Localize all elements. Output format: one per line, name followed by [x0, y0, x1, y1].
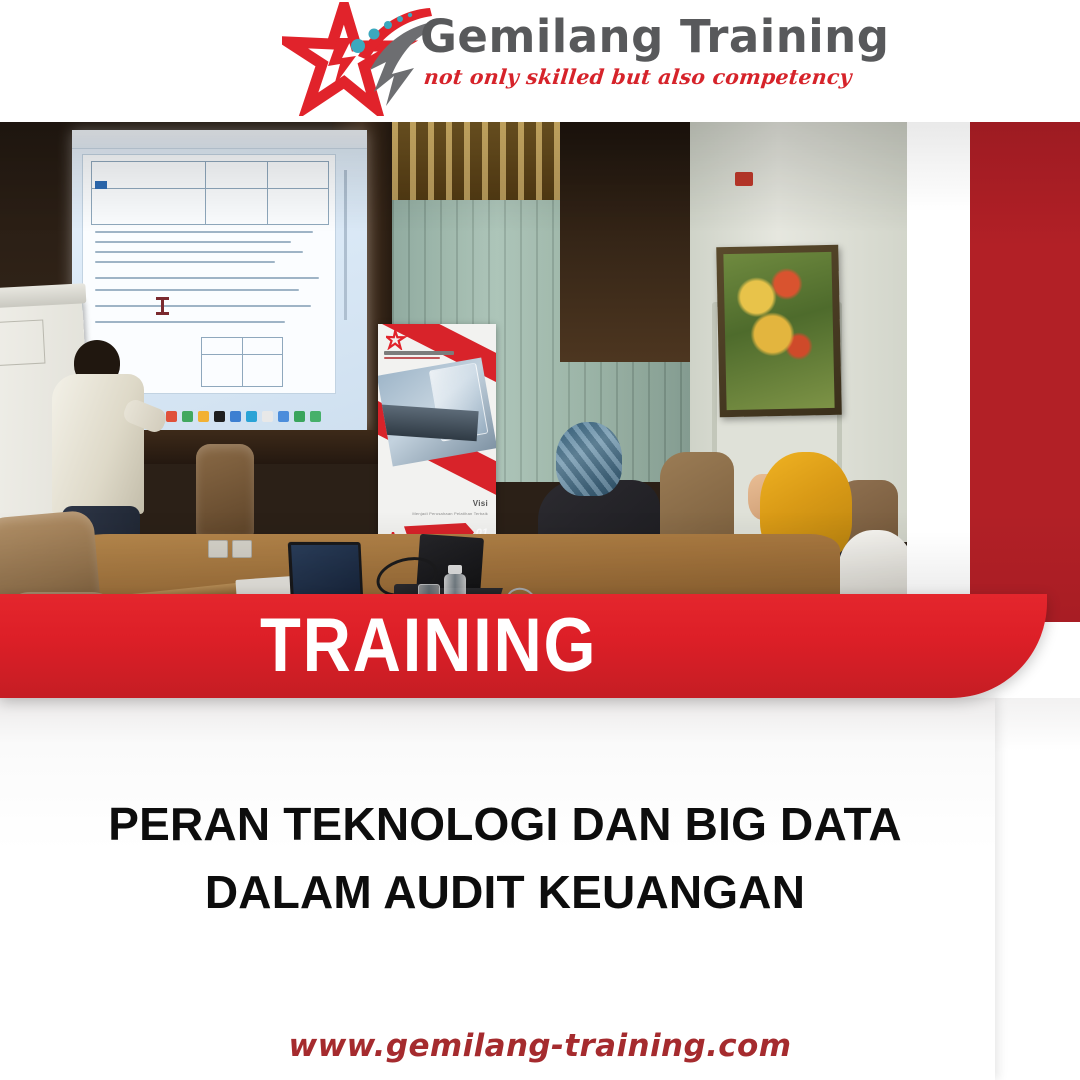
website-url[interactable]: www.gemilang-training.com	[0, 1028, 1080, 1064]
rollup-banner: Visi Menjadi Perusahaan Pelatihan Terbai…	[378, 324, 496, 552]
wall-socket	[208, 540, 228, 558]
rollup-star-icon	[386, 330, 408, 350]
painting-canvas	[723, 252, 834, 410]
header: Gemilang Training not only skilled but a…	[0, 0, 1080, 122]
screen-scrollbar	[344, 170, 347, 320]
flipchart-sketch	[0, 319, 45, 366]
rollup-visi-sub: Menjadi Perusahaan Pelatihan Terbaik	[412, 511, 488, 516]
participant-blue-hijab	[556, 422, 622, 496]
course-title-line-2: DALAM AUDIT KEUANGAN	[0, 858, 1010, 926]
photo-gap-strip	[907, 122, 970, 622]
wall-socket	[232, 540, 252, 558]
course-title-line-1: PERAN TEKNOLOGI DAN BIG DATA	[0, 790, 1010, 858]
logo-tagline: not only skilled but also competency	[423, 64, 814, 90]
banner-title-text: TRAINING	[260, 608, 597, 684]
training-banner: TRAINING	[0, 594, 1047, 698]
doc-highlight	[95, 181, 107, 189]
exit-sign	[735, 172, 753, 186]
photo-stage: Visi Menjadi Perusahaan Pelatihan Terbai…	[0, 122, 1080, 622]
logo-text-block: Gemilang Training not only skilled but a…	[420, 12, 812, 90]
training-flyer: Gemilang Training not only skilled but a…	[0, 0, 1080, 1080]
doc-table-2	[201, 337, 283, 387]
flower-painting	[716, 245, 842, 418]
rollup-train-photo	[378, 357, 496, 466]
banner-title: TRAINING	[0, 608, 1047, 684]
wall-dark-right	[560, 122, 700, 362]
doc-table	[91, 161, 329, 225]
course-title: PERAN TEKNOLOGI DAN BIG DATA DALAM AUDIT…	[0, 790, 1010, 926]
flipchart-rail	[0, 283, 86, 309]
chair	[196, 444, 254, 536]
red-side-panel	[970, 122, 1080, 622]
text-cursor	[161, 297, 164, 315]
star-lightning-icon	[282, 2, 432, 116]
screen-toolbar	[72, 130, 367, 149]
logo-name: Gemilang Training	[420, 12, 812, 62]
presenter-body	[52, 374, 144, 514]
brand-logo[interactable]: Gemilang Training not only skilled but a…	[282, 2, 812, 116]
training-session-photo: Visi Menjadi Perusahaan Pelatihan Terbai…	[0, 122, 907, 622]
rollup-visi-label: Visi	[473, 499, 488, 508]
screen-document	[82, 154, 336, 394]
